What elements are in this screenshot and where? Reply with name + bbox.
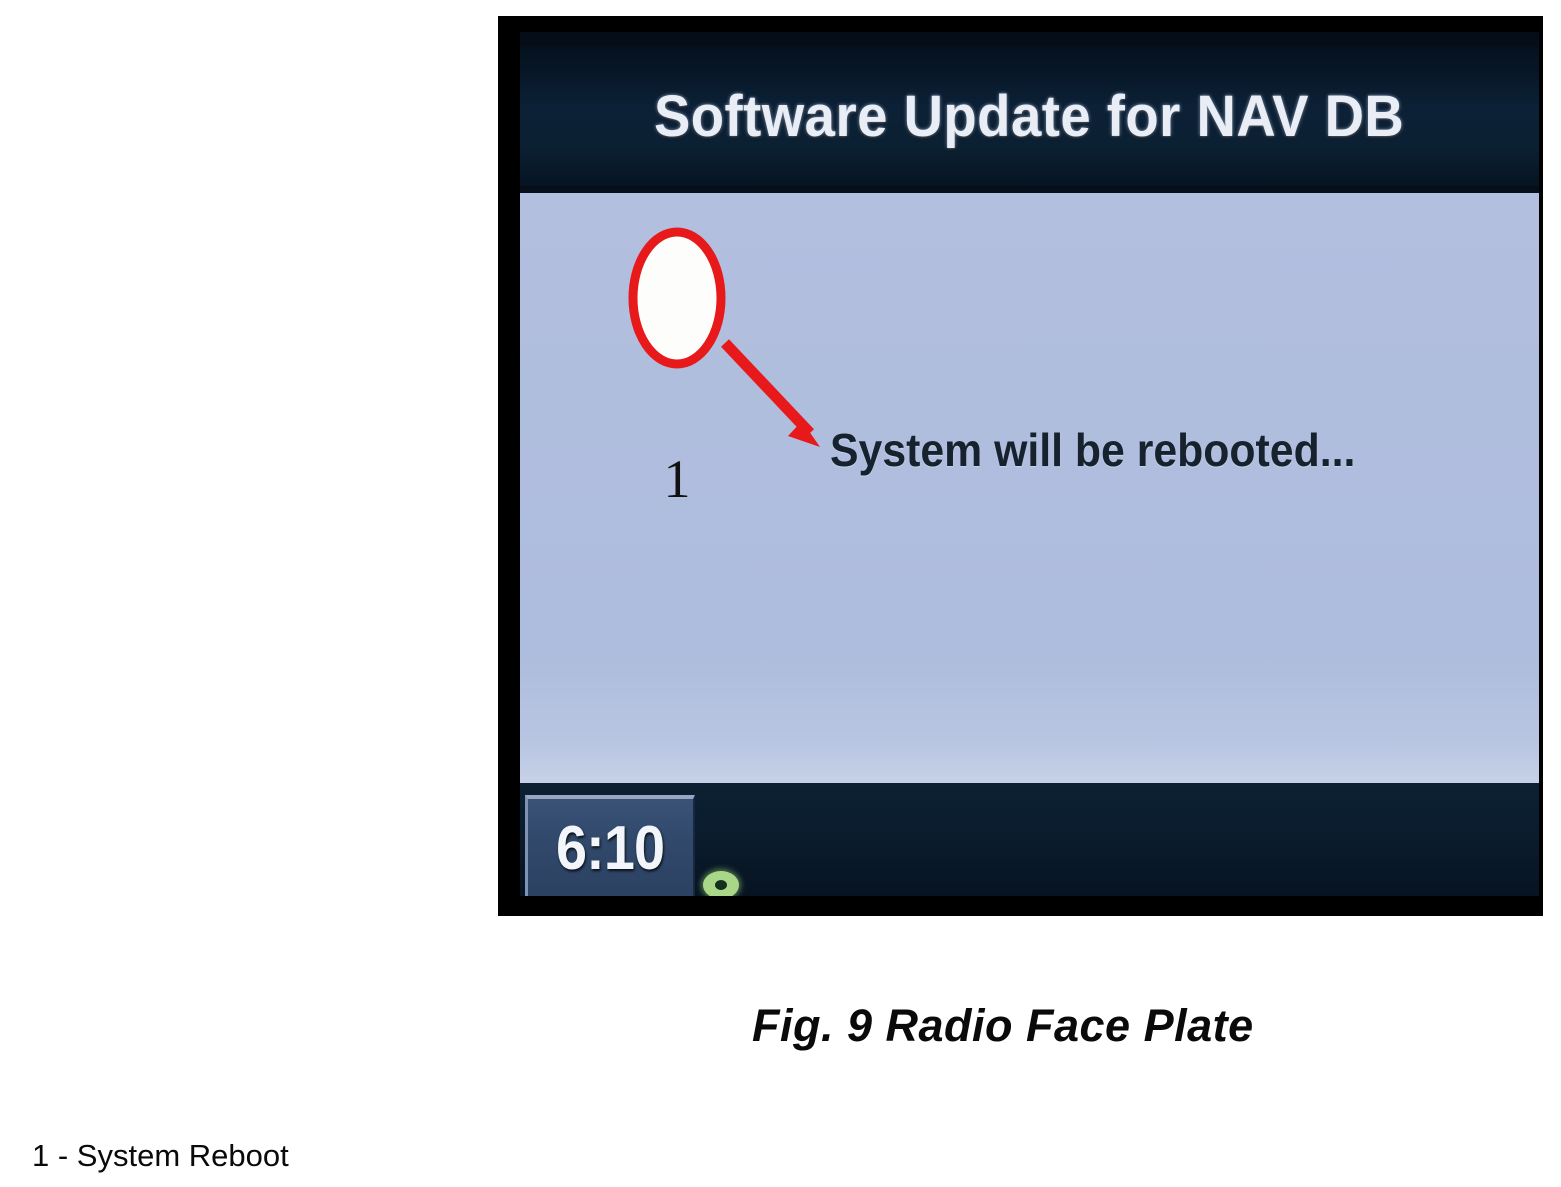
callout-number-label: 1 — [634, 448, 720, 510]
legend-item-1: 1 - System Reboot — [32, 1138, 289, 1174]
figure-caption: Fig. 9 Radio Face Plate — [752, 1000, 1254, 1052]
clock-time-label: 6:10 — [556, 813, 664, 884]
radio-screen-panel: Software Update for NAV DB System will b… — [520, 32, 1539, 896]
callout-arrow-head — [788, 421, 820, 447]
screen-footer-bar: 6:10 — [520, 783, 1539, 896]
radio-face-plate-photo: Software Update for NAV DB System will b… — [498, 16, 1543, 916]
screen-title: Software Update for NAV DB — [654, 83, 1404, 150]
status-led-icon — [703, 871, 739, 896]
callout-ellipse — [633, 232, 721, 364]
screen-title-bar: Software Update for NAV DB — [520, 46, 1539, 186]
clock-button[interactable]: 6:10 — [525, 795, 695, 896]
callout-arrow-line — [725, 343, 810, 433]
reboot-status-message: System will be rebooted... — [830, 423, 1355, 477]
screen-content-area: System will be rebooted... 1 — [520, 190, 1539, 786]
